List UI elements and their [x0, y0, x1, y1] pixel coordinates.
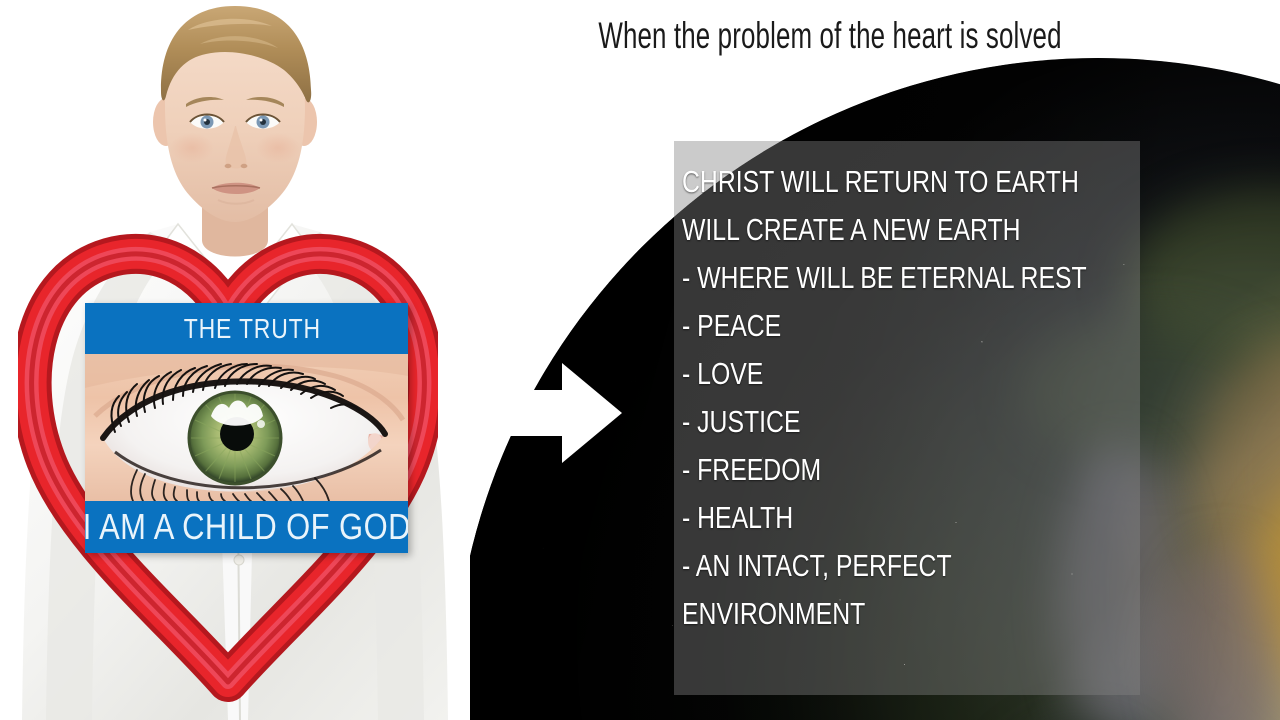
truth-card-footer: I AM A CHILD OF GOD [85, 501, 408, 553]
overlay-line-7: - FREEDOM [682, 446, 1058, 494]
cheek-right [256, 133, 300, 163]
truth-card-header-label: THE TRUTH [172, 313, 321, 345]
overlay-panel-text: CHRIST WILL RETURN TO EARTH WILL CREATE … [682, 158, 1152, 638]
right-arrow [466, 363, 622, 463]
green-eye-closeup-photo [85, 354, 408, 501]
overlay-line-10: ENVIRONMENT [682, 590, 1058, 638]
slide-title: When the problem of the heart is solved [578, 14, 1082, 58]
overlay-line-5: - LOVE [682, 350, 1058, 398]
cheek-left [170, 133, 214, 163]
overlay-line-2: WILL CREATE A NEW EARTH [682, 206, 1058, 254]
truth-card: THE TRUTH [85, 303, 408, 553]
overlay-line-6: - JUSTICE [682, 398, 1058, 446]
truth-card-footer-label: I AM A CHILD OF GOD [85, 506, 408, 548]
nostril-right [241, 164, 248, 168]
nostril-left [225, 164, 232, 168]
overlay-line-8: - HEALTH [682, 494, 1058, 542]
right-arrow-icon [466, 363, 622, 463]
overlay-line-9: - AN INTACT, PERFECT [682, 542, 1058, 590]
overlay-line-3: - WHERE WILL BE ETERNAL REST [682, 254, 1058, 302]
overlay-line-4: - PEACE [682, 302, 1058, 350]
truth-card-header: THE TRUTH [85, 303, 408, 354]
slide-canvas: CHRIST WILL RETURN TO EARTH WILL CREATE … [0, 0, 1280, 720]
overlay-line-1: CHRIST WILL RETURN TO EARTH [682, 158, 1058, 206]
